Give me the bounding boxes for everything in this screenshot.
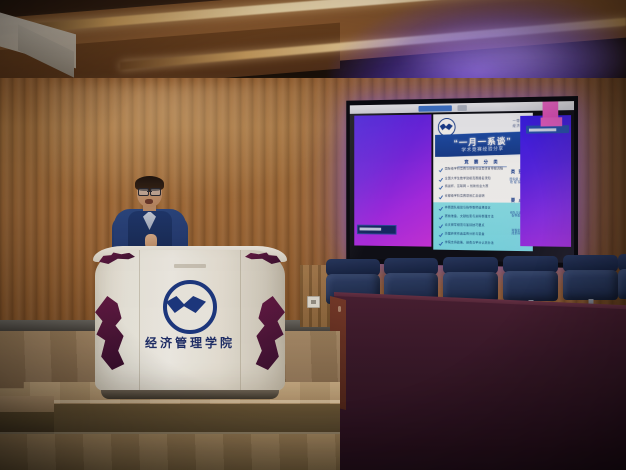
slide-bullet-text: 学院支持政策、经费与学分认定办法 — [445, 241, 494, 245]
podium-base — [101, 390, 279, 399]
university-emblem-icon — [163, 280, 217, 334]
lecture-hall-photo: 一带一路 经济管理 “一月一系谈” 学术竞赛经验分享 竞 赛 分 类 国际级学科… — [0, 0, 626, 470]
screen-display-area: 一带一路 经济管理 “一月一系谈” 学术竞赛经验分享 竞 赛 分 类 国际级学科… — [350, 101, 574, 263]
flying-bird-glyph-icon — [166, 296, 206, 313]
glasses-icon — [138, 188, 161, 194]
slide-bullet-text: 论文撰写规范与答辩技巧要点 — [445, 224, 485, 228]
floor-foreground — [0, 434, 340, 470]
wall-outlet — [307, 296, 320, 308]
chair-backrest — [618, 269, 626, 299]
slide-bullet-item: 挑战杯、互联网 + 创新创业大赛 — [439, 185, 509, 190]
screen-window-titlebar[interactable] — [350, 101, 574, 114]
titlebar-chip-secondary — [457, 105, 466, 111]
screen-right-gradient-panel — [520, 115, 571, 247]
stage-step-riser — [0, 412, 54, 434]
slide-bullet-text: 全国大学生数学建模竞赛报名须知 — [445, 177, 491, 181]
titlebar-chip-primary — [418, 105, 451, 111]
left-panel-label-chip — [357, 225, 397, 235]
podium-seam-right — [240, 250, 241, 391]
check-icon — [439, 178, 443, 182]
slide-bird-glyph-icon — [440, 123, 453, 130]
glasses-left-lens — [138, 188, 149, 196]
podium-front-panel: 经济管理学院 — [95, 250, 285, 391]
speaker-mouth — [145, 199, 153, 204]
slide-bullet-item: 赛前准备、文献检索与资料整理方法 — [439, 215, 509, 220]
podium-seam-left — [139, 250, 140, 391]
slide-bullet-item: 历届获奖作品案例分析与复盘 — [439, 232, 509, 238]
slide-bullet-text: 参赛团队组建与指导教师选择建议 — [445, 206, 491, 210]
check-icon — [439, 215, 443, 219]
chair-backrest — [563, 270, 618, 300]
slide-bullet-item: 省部级学科竞赛项目汇总说明 — [439, 195, 509, 200]
glasses-bridge — [147, 191, 152, 192]
slide-bullet-item: 论文撰写规范与答辩技巧要点 — [439, 224, 509, 230]
slide-bullet-text: 国际级学科竞赛与创新创业类项目申报流程 — [445, 167, 503, 171]
check-icon — [439, 195, 443, 199]
slide-bullet-text: 省部级学科竞赛项目汇总说明 — [445, 195, 485, 199]
slide-section-heading: 竞 赛 分 类 — [454, 159, 511, 165]
cloud-ornament-bottom-left-icon — [93, 296, 127, 370]
slide-bullet-text: 赛前准备、文献检索与资料整理方法 — [445, 215, 494, 219]
lectern-podium: 经济管理学院 — [95, 250, 285, 395]
slide-bullet-text: 历届获奖作品案例分析与复盘 — [445, 232, 485, 236]
screen-pink-tab-secondary — [541, 117, 563, 126]
check-icon — [439, 233, 443, 237]
glasses-right-lens — [150, 188, 161, 196]
slide-bullet-item: 参赛团队组建与指导教师选择建议 — [439, 206, 509, 211]
screen-left-gradient-panel — [354, 114, 431, 246]
presentation-slide: 一带一路 经济管理 “一月一系谈” 学术竞赛经验分享 竞 赛 分 类 国际级学科… — [433, 113, 533, 252]
slide-bullet-item: 全国大学生数学建模竞赛报名须知 — [439, 177, 509, 182]
table-knob — [338, 306, 341, 312]
check-icon — [439, 241, 443, 245]
projection-screen[interactable]: 一带一路 经济管理 “一月一系谈” 学术竞赛经验分享 竞 赛 分 类 国际级学科… — [346, 96, 578, 268]
slide-header: 一带一路 经济管理 “一月一系谈” 学术竞赛经验分享 — [433, 113, 533, 157]
check-icon — [439, 207, 443, 211]
wall-light-sheen — [40, 84, 360, 204]
podium-label-plate — [174, 264, 206, 268]
slide-title-band: “一月一系谈” 学术竞赛经验分享 — [435, 131, 531, 157]
check-icon — [439, 168, 443, 172]
check-icon — [439, 185, 443, 189]
check-icon — [439, 224, 443, 228]
slide-bullet-item: 国际级学科竞赛与创新创业类项目申报流程 — [439, 167, 509, 172]
podium-organization-name: 经济管理学院 — [95, 334, 285, 351]
cloud-ornament-bottom-right-icon — [253, 296, 287, 370]
chair-backrest — [503, 271, 558, 301]
front-conference-table — [334, 296, 626, 470]
slide-body: 竞 赛 分 类 国际级学科竞赛与创新创业类项目申报流程 全国大学生数学建模竞赛报… — [433, 156, 533, 251]
slide-bullet-item: 学院支持政策、经费与学分认定办法 — [439, 241, 509, 247]
slide-cyan-section: 参赛团队组建与指导教师选择建议 赛前准备、文献检索与资料整理方法 论文撰写规范与… — [433, 202, 533, 251]
slide-bullet-text: 挑战杯、互联网 + 创新创业大赛 — [445, 185, 489, 189]
